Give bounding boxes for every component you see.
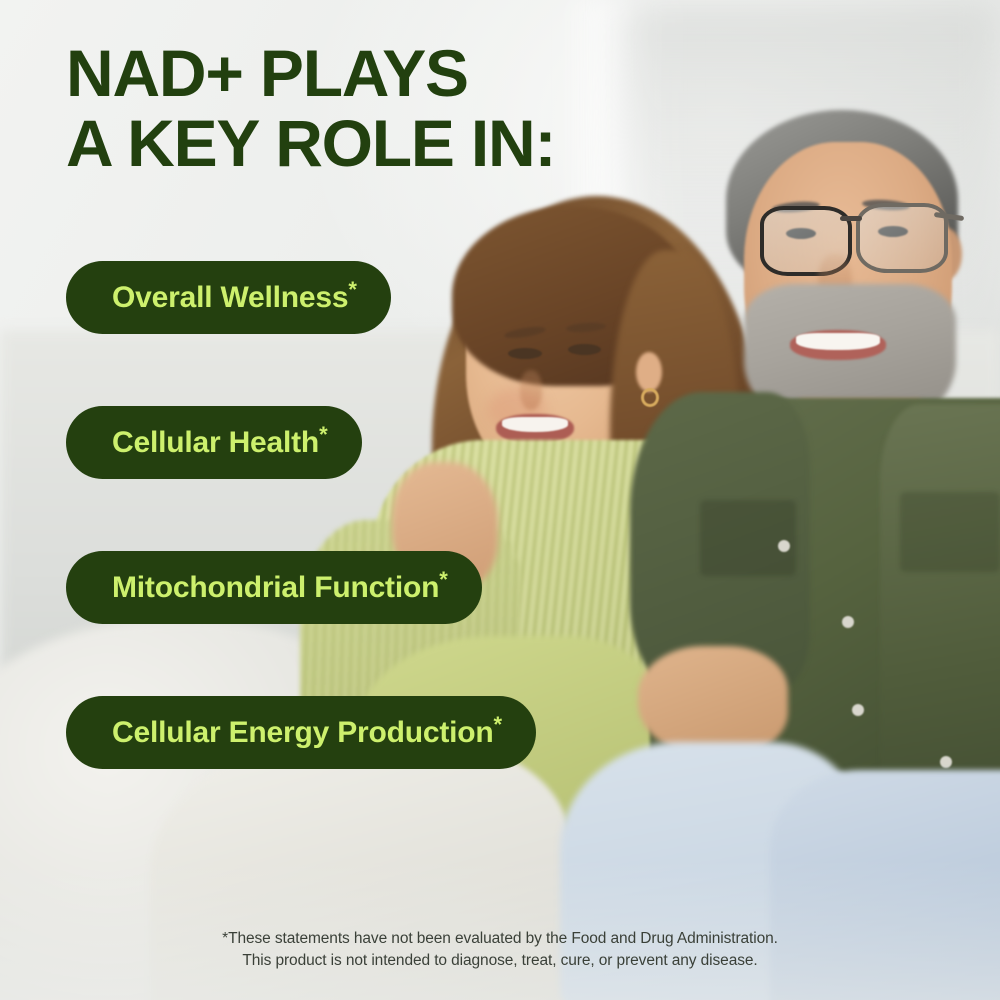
woman-ear bbox=[636, 352, 662, 392]
footnote-marker: * bbox=[348, 279, 357, 301]
man-shirt-snap bbox=[778, 540, 790, 552]
man-teeth bbox=[796, 333, 880, 350]
benefit-label: Cellular Energy Production bbox=[112, 718, 494, 748]
benefit-pill-cellular-health: Cellular Health * bbox=[66, 406, 362, 479]
man-hand bbox=[638, 646, 788, 756]
man-shirt-pocket-left bbox=[700, 500, 796, 576]
benefit-label: Overall Wellness bbox=[112, 283, 348, 313]
fda-disclaimer: *These statements have not been evaluate… bbox=[0, 928, 1000, 972]
woman-eye-right bbox=[568, 344, 601, 355]
man-shirt-pocket-right bbox=[900, 492, 1000, 572]
footnote-marker: * bbox=[494, 714, 503, 736]
benefit-pill-overall-wellness: Overall Wellness * bbox=[66, 261, 391, 334]
promo-graphic: NAD+ PLAYS A KEY ROLE IN: Overall Wellne… bbox=[0, 0, 1000, 1000]
benefit-label: Cellular Health bbox=[112, 428, 319, 458]
man-shirt-snap bbox=[842, 616, 854, 628]
page-title: NAD+ PLAYS A KEY ROLE IN: bbox=[66, 38, 555, 178]
benefit-pill-mitochondrial-function: Mitochondrial Function * bbox=[66, 551, 482, 624]
benefits-list: Overall Wellness * Cellular Health * Mit… bbox=[66, 261, 536, 769]
woman-earring bbox=[641, 388, 659, 407]
footnote-marker: * bbox=[439, 569, 448, 591]
benefit-label: Mitochondrial Function bbox=[112, 573, 439, 603]
man-shirt-snap bbox=[940, 756, 952, 768]
footnote-marker: * bbox=[319, 424, 328, 446]
man-eyeglass-bridge bbox=[840, 216, 862, 221]
man-shirt-snap bbox=[852, 704, 864, 716]
benefit-pill-cellular-energy-production: Cellular Energy Production * bbox=[66, 696, 536, 769]
